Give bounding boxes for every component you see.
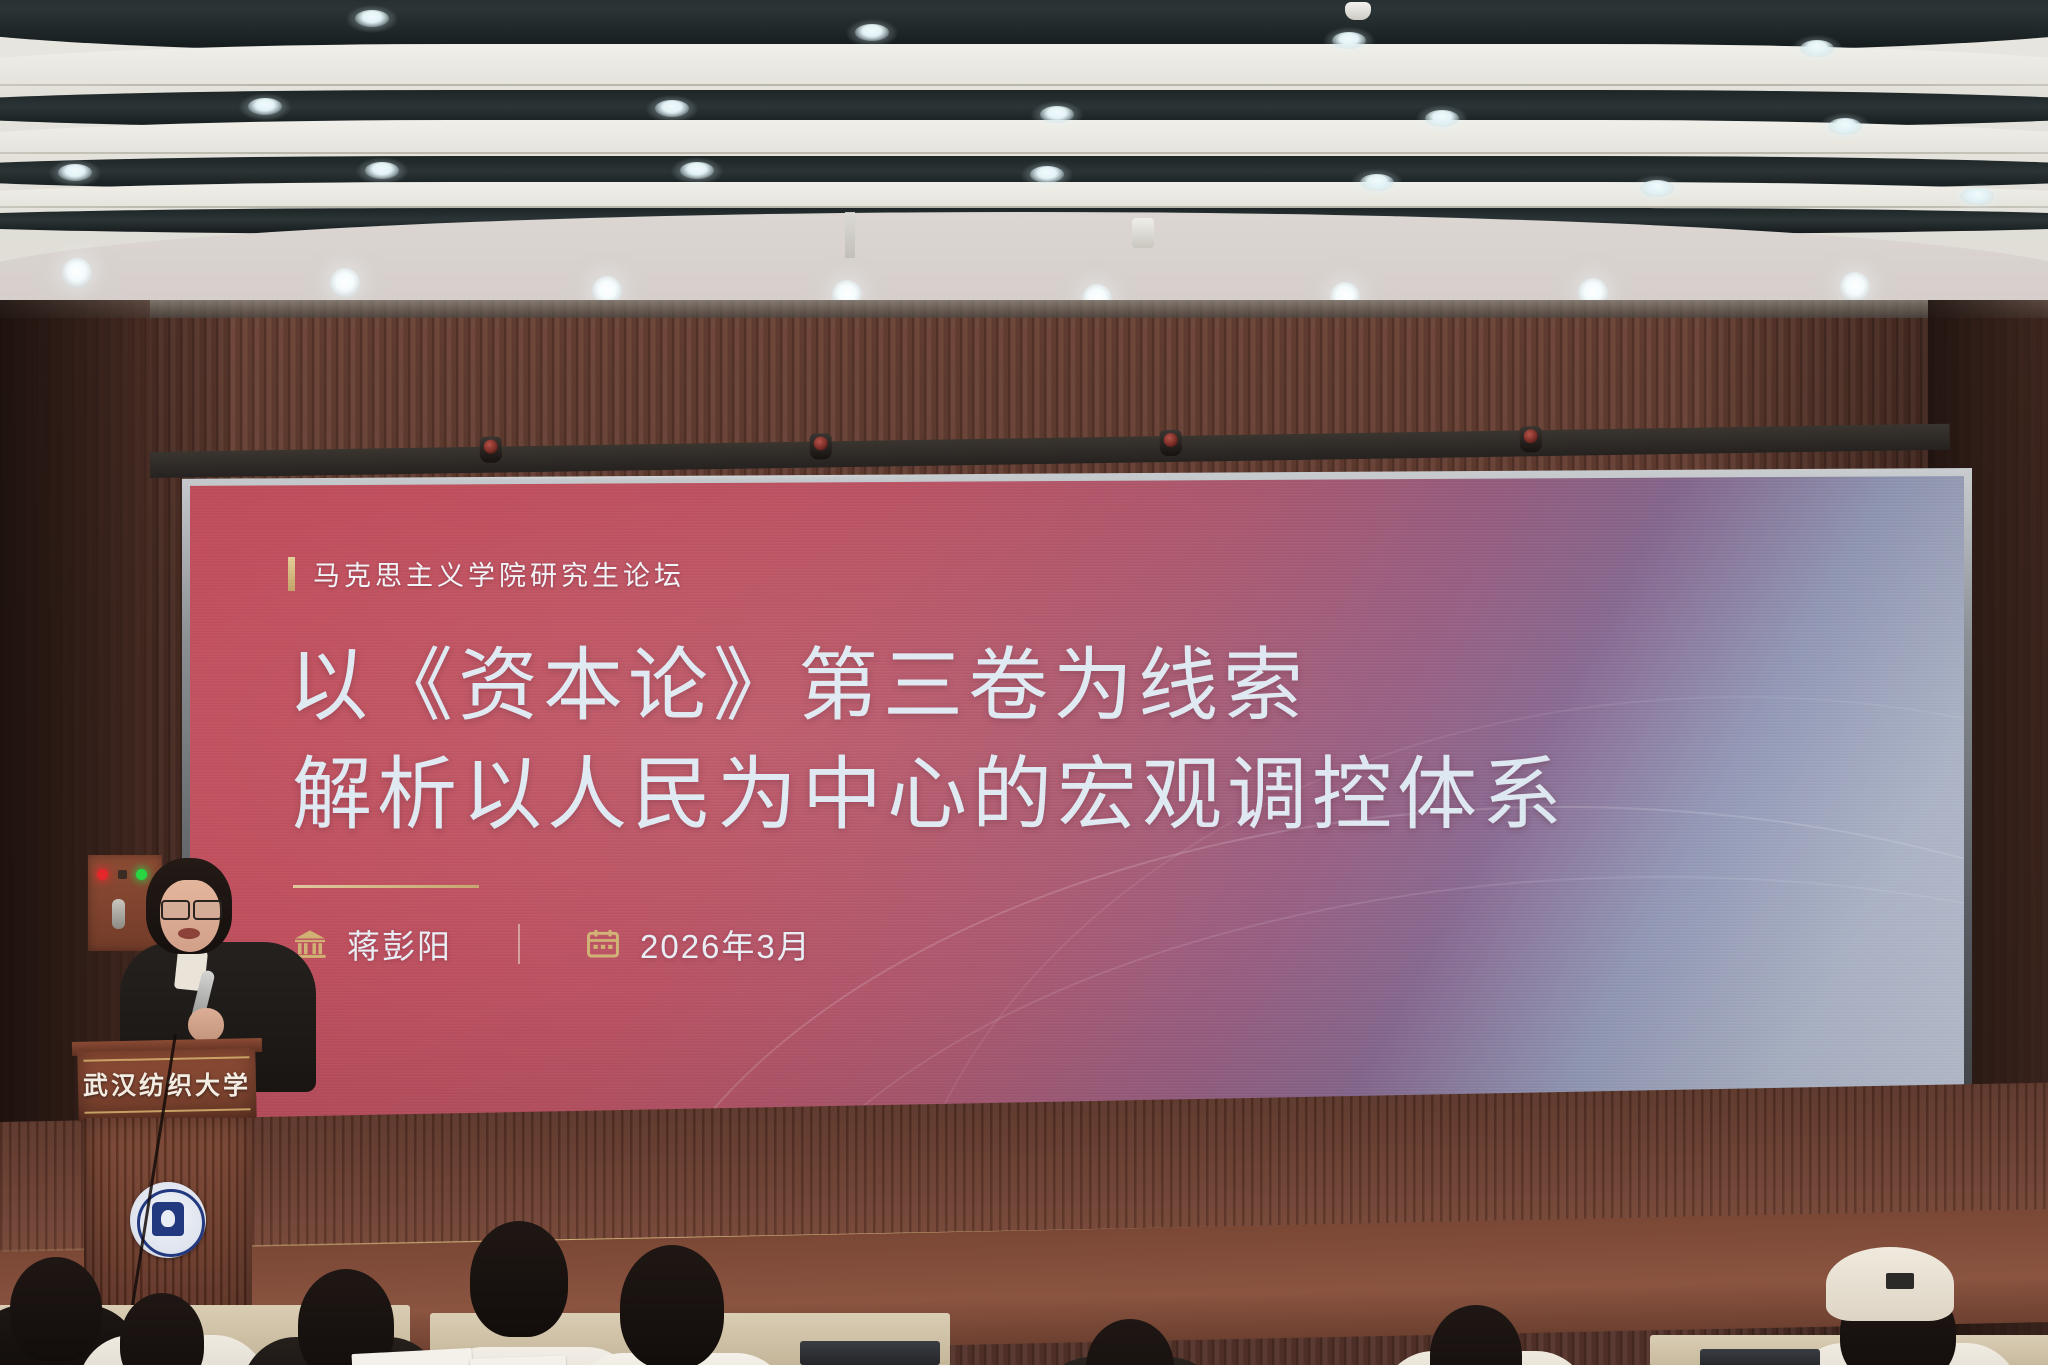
audience-head — [470, 1221, 568, 1337]
ceiling-pendant-light — [1132, 218, 1154, 248]
ceiling-downlight — [1800, 40, 1834, 57]
camera-icon — [810, 433, 832, 459]
ceiling-downlight — [1640, 180, 1674, 197]
podium-trim-line — [83, 1056, 249, 1061]
ceiling-can-light — [62, 258, 92, 288]
ceiling-hairline-2 — [0, 152, 2048, 154]
led-screen: 马克思主义学院研究生论坛 以《资本论》第三卷为线索 解析以人民为中心的宏观调控体… — [182, 468, 1972, 1148]
audience-head — [1086, 1319, 1174, 1365]
ceiling — [0, 0, 2048, 310]
status-led-red — [97, 869, 108, 880]
audience-head — [298, 1269, 394, 1365]
audience-head — [1430, 1305, 1522, 1365]
ceiling-downlight — [355, 10, 389, 27]
ceiling-downlight — [365, 162, 399, 179]
audience-laptop — [1700, 1349, 1820, 1365]
ceiling-downlight — [1425, 110, 1459, 127]
ceiling-downlight — [1360, 174, 1394, 191]
glasses-icon — [160, 900, 220, 917]
cap-logo — [1886, 1273, 1914, 1289]
audience-head — [620, 1245, 724, 1365]
ceiling-can-light — [1840, 272, 1870, 302]
screen-pixel-grid — [190, 476, 1964, 1136]
audience-area — [0, 1185, 2048, 1365]
audience-laptop — [800, 1341, 940, 1365]
podium-trim-line — [85, 1108, 251, 1113]
camera-icon — [1520, 426, 1542, 452]
audience-head — [120, 1293, 204, 1365]
ceiling-downlight — [1960, 188, 1994, 205]
presenter-hand — [188, 1008, 224, 1042]
smoke-detector-icon — [1345, 2, 1371, 20]
audience-head — [10, 1257, 102, 1361]
ceiling-downlight — [58, 164, 92, 181]
ceiling-downlight — [1332, 32, 1366, 49]
camera-icon — [1160, 430, 1182, 456]
ceiling-hairline-1 — [0, 84, 2048, 86]
wall-top-trim — [0, 300, 2048, 318]
ceiling-downlight — [1040, 106, 1074, 123]
presenter-mouth — [178, 928, 200, 939]
ceiling-downlight — [655, 100, 689, 117]
ceiling-pendant-rod — [845, 212, 855, 258]
ceiling-downlight — [855, 24, 889, 41]
ceiling-downlight — [248, 98, 282, 115]
ceiling-downlight — [1030, 166, 1064, 183]
ceiling-downlight — [680, 162, 714, 179]
ceiling-downlight — [1828, 118, 1862, 135]
camera-icon — [480, 436, 502, 462]
slide-canvas: 马克思主义学院研究生论坛 以《资本论》第三卷为线索 解析以人民为中心的宏观调控体… — [190, 476, 1964, 1136]
ceiling-can-light — [330, 268, 360, 298]
lecture-hall-scene: 马克思主义学院研究生论坛 以《资本论》第三卷为线索 解析以人民为中心的宏观调控体… — [0, 0, 2048, 1365]
